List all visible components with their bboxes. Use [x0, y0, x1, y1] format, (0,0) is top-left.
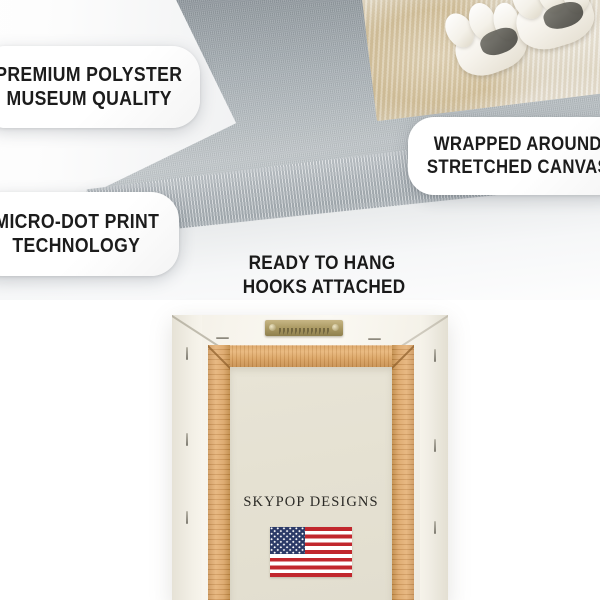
callout-micro-dot-print: MICRO-DOT PRINT TECHNOLOGY — [0, 192, 179, 276]
stretcher-bar-left — [208, 345, 230, 600]
callout-line-2: TECHNOLOGY — [13, 234, 141, 258]
callout-line-2: STRETCHED CANVAS — [427, 156, 600, 179]
wood-grain — [392, 345, 414, 600]
hanger-screw-left — [269, 324, 276, 331]
flag-stars — [270, 527, 305, 554]
heading-line-2: HOOKS ATTACHED — [243, 276, 401, 300]
callout-line-1: WRAPPED AROUND — [434, 133, 600, 156]
staple — [434, 439, 436, 452]
wood-grain — [208, 345, 230, 600]
staple — [434, 521, 436, 534]
product-feature-collage: PREMIUM POLYSTER MUSEUM QUALITY WRAPPED … — [0, 0, 600, 600]
stretcher-bar-right — [392, 345, 414, 600]
callout-line-2: MUSEUM QUALITY — [6, 87, 171, 111]
canvas-back-view: SKYPOP DESIGNS — [172, 315, 448, 600]
brand-name: SKYPOP DESIGNS — [230, 494, 392, 511]
hanger-teeth — [279, 328, 329, 335]
callout-premium-polyster: PREMIUM POLYSTER MUSEUM QUALITY — [0, 46, 200, 128]
callout-wrapped-around: WRAPPED AROUND STRETCHED CANVAS — [408, 117, 600, 195]
sawtooth-hanger-hardware — [265, 320, 343, 336]
flag-canton — [270, 527, 305, 554]
callout-line-1: PREMIUM POLYSTER — [0, 63, 183, 87]
staple — [186, 347, 188, 360]
heading-ready-to-hang: READY TO HANG HOOKS ATTACHED — [232, 252, 412, 300]
callout-line-1: MICRO-DOT PRINT — [0, 210, 159, 234]
staple — [216, 337, 229, 339]
staple — [434, 349, 436, 362]
staple — [368, 338, 381, 340]
staple — [186, 511, 188, 524]
inner-canvas-back: SKYPOP DESIGNS — [230, 367, 392, 600]
heading-line-1: READY TO HANG — [243, 252, 401, 276]
united-states-flag-icon — [270, 527, 352, 577]
staple — [186, 433, 188, 446]
hanger-screw-right — [332, 324, 339, 331]
